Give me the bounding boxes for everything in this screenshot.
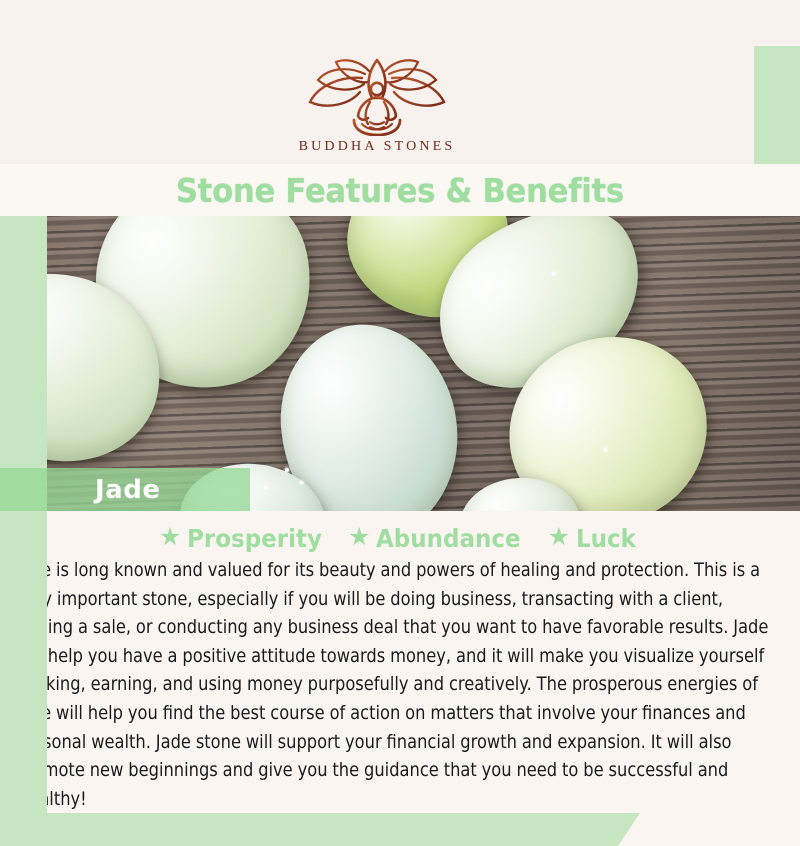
brand-header: BUDDHA STONES bbox=[0, 46, 754, 166]
decor-band-left bbox=[0, 216, 47, 836]
decor-band-bottom bbox=[0, 813, 640, 846]
star-icon: ★ bbox=[548, 525, 570, 550]
section-title-band: Stone Features & Benefits bbox=[0, 164, 800, 216]
benefit-label: Prosperity bbox=[187, 524, 322, 553]
benefits-row: ★ Prosperity ★ Abundance ★ Luck bbox=[16, 524, 784, 553]
sparkle bbox=[552, 272, 555, 275]
benefit-item: ★ Luck bbox=[548, 524, 642, 553]
sparkle bbox=[264, 486, 267, 489]
star-icon: ★ bbox=[348, 525, 370, 550]
content-panel: ★ Prosperity ★ Abundance ★ Luck Jade is … bbox=[0, 511, 800, 846]
benefit-label: Abundance bbox=[376, 524, 521, 553]
stone-description: Jade is long known and valued for its be… bbox=[16, 557, 784, 814]
sparkle bbox=[285, 468, 289, 472]
stone-name-label: Jade bbox=[95, 475, 160, 505]
brand-name: BUDDHA STONES bbox=[299, 139, 456, 155]
stone-name-tag: Jade bbox=[0, 468, 250, 511]
benefit-item: ★ Prosperity bbox=[159, 524, 334, 553]
benefit-item: ★ Abundance bbox=[348, 524, 534, 553]
sparkle bbox=[604, 448, 607, 451]
brand-logo: BUDDHA STONES bbox=[299, 58, 456, 155]
sparkle bbox=[300, 481, 303, 484]
star-icon: ★ bbox=[159, 525, 181, 550]
hero-photo bbox=[0, 216, 800, 511]
lotus-meditation-icon bbox=[302, 58, 452, 136]
benefit-label: Luck bbox=[576, 524, 636, 553]
page-title: Stone Features & Benefits bbox=[176, 171, 624, 210]
